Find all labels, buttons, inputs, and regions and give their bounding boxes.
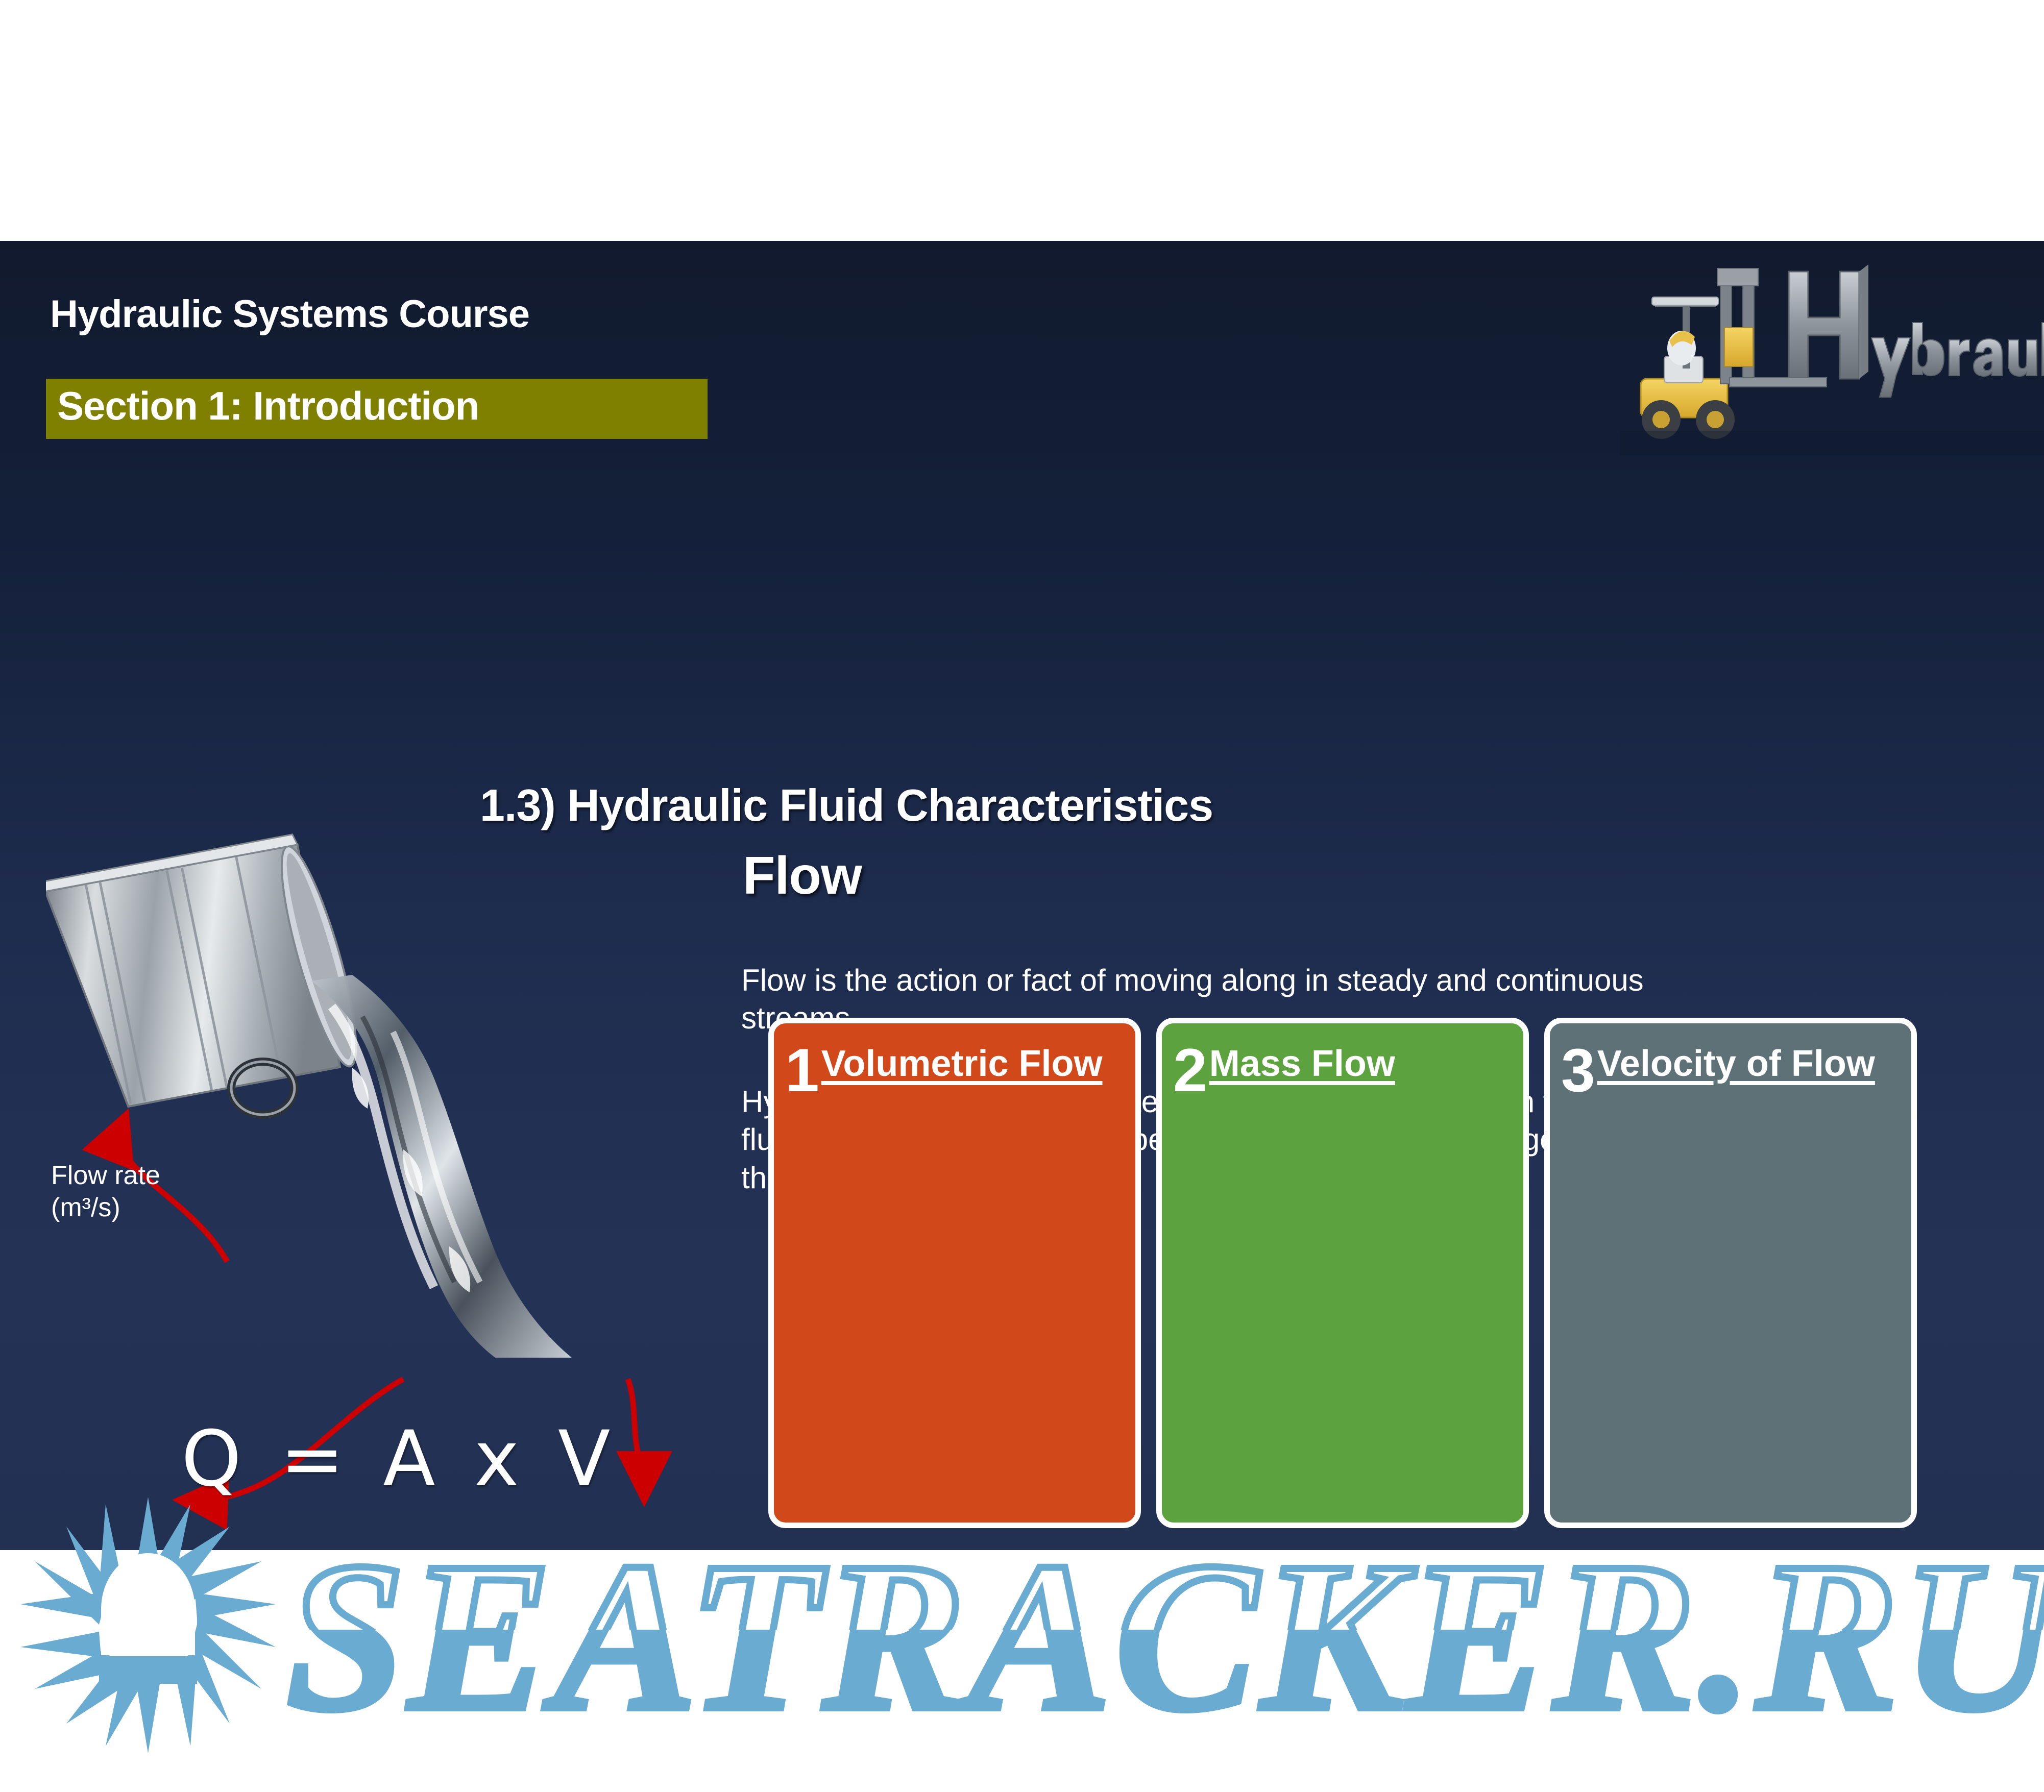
page-subtitle: Flow — [743, 846, 862, 906]
step-card-velocity-of-flow[interactable]: 3 Velocity of Flow — [1544, 1018, 1917, 1528]
water-stream — [311, 975, 572, 1358]
pouring-bucket-image — [46, 813, 674, 1389]
logo-letter-h — [1789, 264, 1868, 379]
callout-flow-rate: Flow rate (m³/s) — [51, 1160, 160, 1224]
course-title: Hydraulic Systems Course — [50, 292, 529, 336]
step-label: Mass Flow — [1209, 1043, 1395, 1085]
step-card-mass-flow[interactable]: 2 Mass Flow — [1156, 1018, 1529, 1528]
step-number: 3 — [1561, 1043, 1595, 1098]
watermark-text: SEATRACKER.RU SEATRACKER.RU — [286, 1518, 2044, 1755]
step-number: 1 — [785, 1043, 819, 1098]
section-banner: Section 1: Introduction — [46, 379, 708, 439]
section-label: Section 1: Introduction — [57, 383, 479, 429]
pail-shape — [46, 813, 370, 1134]
step-label: Volumetric Flow — [821, 1043, 1103, 1085]
hydraulics-logo — [1620, 251, 2044, 455]
slide-canvas: Hydraulic Systems Course Section 1: Intr… — [0, 241, 2044, 1550]
svg-text:SEATRACKER.RU: SEATRACKER.RU — [286, 1518, 2044, 1755]
logo-wordmark — [1871, 323, 2044, 397]
svg-text:SEATRACKER.RU: SEATRACKER.RU — [286, 1518, 2044, 1755]
step-label: Velocity of Flow — [1597, 1043, 1875, 1085]
step-number: 2 — [1173, 1043, 1207, 1098]
step-card-volumetric-flow[interactable]: 1 Volumetric Flow — [768, 1018, 1141, 1528]
slide-page: Hydraulic Systems Course Section 1: Intr… — [0, 0, 2044, 1792]
flow-formula: Q = A x V — [181, 1415, 617, 1504]
